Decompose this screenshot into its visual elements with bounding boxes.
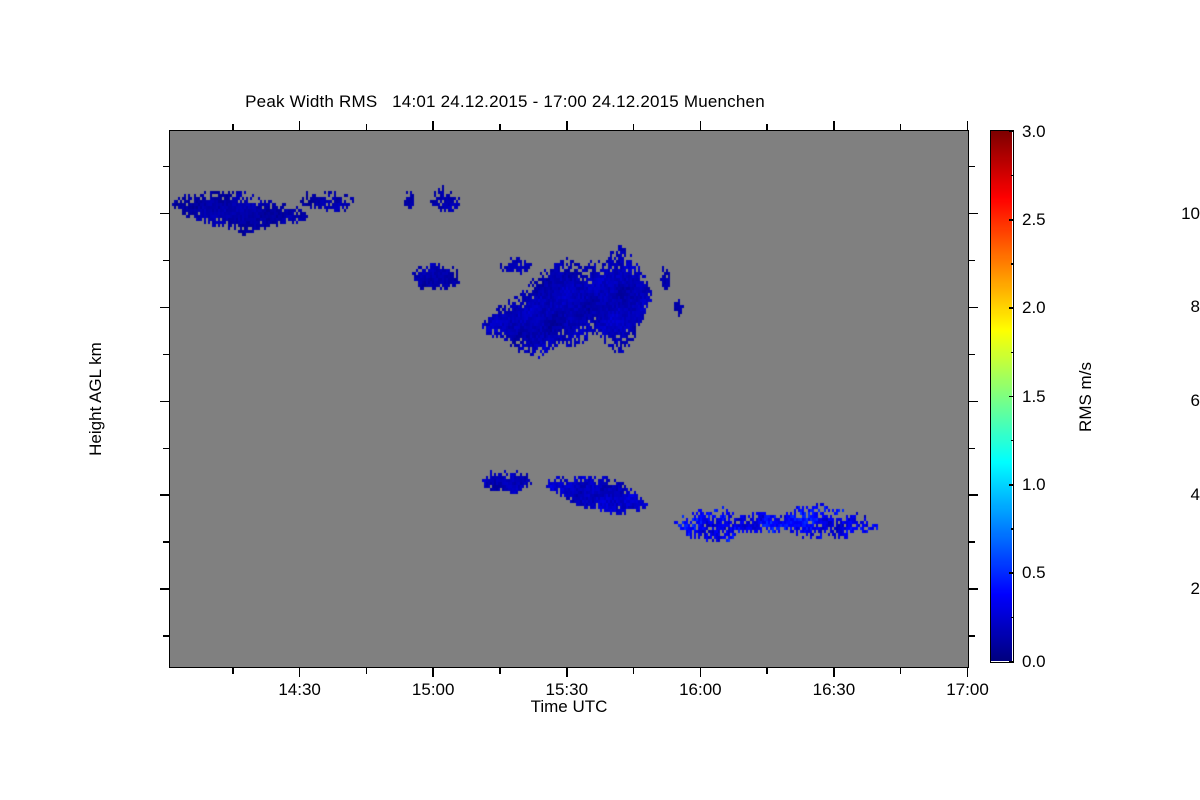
x-tick-minor-top: [232, 124, 234, 130]
colorbar-tick-major: [1009, 572, 1014, 574]
colorbar-tick-label: 0.0: [1022, 652, 1046, 672]
x-tick-minor-top: [900, 124, 902, 130]
colorbar-tick-label: 2.0: [1022, 298, 1046, 318]
x-tick-label: 17:00: [946, 680, 989, 700]
y-tick-label: 6: [1046, 391, 1200, 411]
colorbar-tick-label: 1.5: [1022, 387, 1046, 407]
x-tick-major: [432, 668, 434, 677]
y-tick-label: 4: [1046, 485, 1200, 505]
x-tick-minor-top: [366, 124, 368, 130]
x-tick-minor-top: [633, 124, 635, 130]
x-tick-major: [566, 668, 568, 677]
x-tick-minor: [633, 668, 635, 674]
y-tick-major: [160, 494, 169, 496]
colorbar-tick-major: [1009, 661, 1014, 663]
x-tick-label: 16:30: [813, 680, 856, 700]
y-tick-major-right: [969, 401, 978, 403]
colorbar-tick-label: 2.5: [1022, 210, 1046, 230]
y-tick-minor: [163, 541, 169, 543]
y-tick-label: 8: [1046, 297, 1200, 317]
y-tick-major: [160, 213, 169, 215]
y-tick-minor: [163, 166, 169, 168]
x-tick-label: 16:00: [679, 680, 722, 700]
y-tick-major-right: [969, 307, 978, 309]
y-tick-major-right: [969, 213, 978, 215]
y-tick-major-right: [969, 588, 978, 590]
y-tick-major-right: [969, 494, 978, 496]
colorbar-tick-major: [1009, 396, 1014, 398]
x-tick-major: [700, 668, 702, 677]
x-tick-major-top: [967, 121, 969, 130]
colorbar-tick-major: [1009, 307, 1014, 309]
colorbar-tick-minor: [1011, 263, 1014, 265]
x-tick-minor: [232, 668, 234, 674]
x-tick-minor: [366, 668, 368, 674]
y-tick-major: [160, 307, 169, 309]
x-tick-minor: [766, 668, 768, 674]
y-tick-minor-right: [969, 354, 975, 356]
colorbar-tick-label: 0.5: [1022, 563, 1046, 583]
x-tick-major-top: [432, 121, 434, 130]
colorbar-tick-label: 1.0: [1022, 475, 1046, 495]
colorbar-title: RMS m/s: [1076, 362, 1096, 432]
x-tick-major: [967, 668, 969, 677]
y-tick-major: [160, 401, 169, 403]
colorbar-tick-minor: [1011, 175, 1014, 177]
x-tick-label: 14:30: [278, 680, 321, 700]
y-tick-minor: [163, 448, 169, 450]
colorbar-tick-minor: [1011, 352, 1014, 354]
x-axis-title: Time UTC: [531, 697, 608, 717]
x-tick-major-top: [700, 121, 702, 130]
y-tick-minor: [163, 354, 169, 356]
y-tick-minor: [163, 635, 169, 637]
plot-area: [169, 130, 969, 668]
x-tick-major: [833, 668, 835, 677]
colorbar-tick-label: 3.0: [1022, 122, 1046, 142]
colorbar-tick-major: [1009, 131, 1014, 133]
colorbar-tick-major: [1009, 484, 1014, 486]
x-tick-label: 15:00: [412, 680, 455, 700]
y-tick-minor-right: [969, 541, 975, 543]
heatmap-plot: [170, 131, 967, 666]
y-axis-title: Height AGL km: [86, 342, 106, 456]
x-tick-minor: [499, 668, 501, 674]
x-tick-minor-top: [499, 124, 501, 130]
x-tick-minor-top: [766, 124, 768, 130]
y-tick-major: [160, 588, 169, 590]
x-tick-major-top: [299, 121, 301, 130]
page-title: Peak Width RMS 14:01 24.12.2015 - 17:00 …: [0, 92, 1010, 112]
x-tick-major-top: [566, 121, 568, 130]
colorbar-tick-minor: [1011, 617, 1014, 619]
colorbar-tick-minor: [1011, 440, 1014, 442]
y-tick-label: 10: [1046, 204, 1200, 224]
x-tick-minor: [900, 668, 902, 674]
colorbar-tick-major: [1009, 219, 1014, 221]
y-tick-label: 2: [1046, 579, 1200, 599]
y-tick-minor-right: [969, 635, 975, 637]
y-tick-minor: [163, 260, 169, 262]
figure-canvas: Peak Width RMS 14:01 24.12.2015 - 17:00 …: [0, 0, 1200, 800]
colorbar-tick-minor: [1011, 528, 1014, 530]
y-tick-minor-right: [969, 166, 975, 168]
x-tick-major: [299, 668, 301, 677]
y-tick-minor-right: [969, 448, 975, 450]
x-tick-major-top: [833, 121, 835, 130]
y-tick-minor-right: [969, 260, 975, 262]
